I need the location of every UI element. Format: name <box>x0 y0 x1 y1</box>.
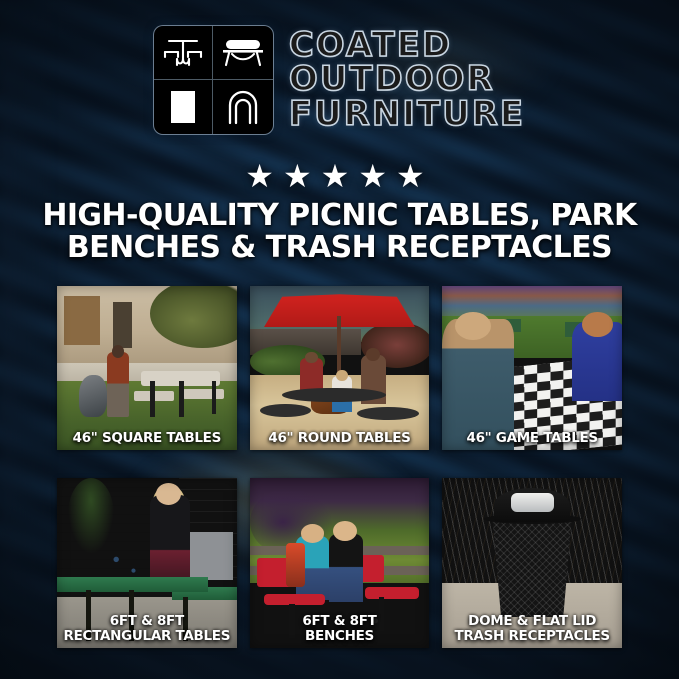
product-card-trash-receptacles[interactable]: DOME & FLAT LID TRASH RECEPTACLES <box>442 478 622 648</box>
product-caption: 46" SQUARE TABLES <box>57 431 237 445</box>
trash-receptacle-icon <box>154 80 214 134</box>
bike-rack-icon <box>213 80 273 134</box>
brand-name-line-2: OUTDOOR <box>289 63 525 96</box>
product-caption: DOME & FLAT LID TRASH RECEPTACLES <box>442 614 622 643</box>
brand-logo: COATED OUTDOOR FURNITURE <box>0 26 679 134</box>
product-caption: 6FT & 8FT RECTANGULAR TABLES <box>57 614 237 643</box>
picnic-table-icon <box>154 26 214 80</box>
product-card-benches[interactable]: 6FT & 8FT BENCHES <box>250 478 430 648</box>
product-category-grid: 46" SQUARE TABLES <box>57 286 622 648</box>
product-card-rectangular-tables[interactable]: 6FT & 8FT RECTANGULAR TABLES <box>57 478 237 648</box>
square-tables-photo <box>57 286 237 450</box>
product-caption: 46" GAME TABLES <box>442 431 622 445</box>
product-caption: 6FT & 8FT BENCHES <box>250 614 430 643</box>
product-card-round-tables[interactable]: 46" ROUND TABLES <box>250 286 430 450</box>
bench-table-icon <box>213 26 273 80</box>
logo-icon-grid <box>154 26 273 134</box>
product-card-square-tables[interactable]: 46" SQUARE TABLES <box>57 286 237 450</box>
product-caption: 46" ROUND TABLES <box>250 431 430 445</box>
product-card-game-tables[interactable]: 46" GAME TABLES <box>442 286 622 450</box>
page-title: HIGH-QUALITY PICNIC TABLES, PARK BENCHES… <box>0 200 679 265</box>
brand-name-line-1: COATED <box>289 29 525 62</box>
promo-banner: COATED OUTDOOR FURNITURE ★★★★★ HIGH-QUAL… <box>0 0 679 679</box>
round-tables-photo <box>250 286 430 450</box>
star-rating: ★★★★★ <box>0 160 679 192</box>
game-tables-photo <box>442 286 622 450</box>
brand-name-line-3: FURNITURE <box>289 98 525 131</box>
brand-name: COATED OUTDOOR FURNITURE <box>289 29 525 131</box>
